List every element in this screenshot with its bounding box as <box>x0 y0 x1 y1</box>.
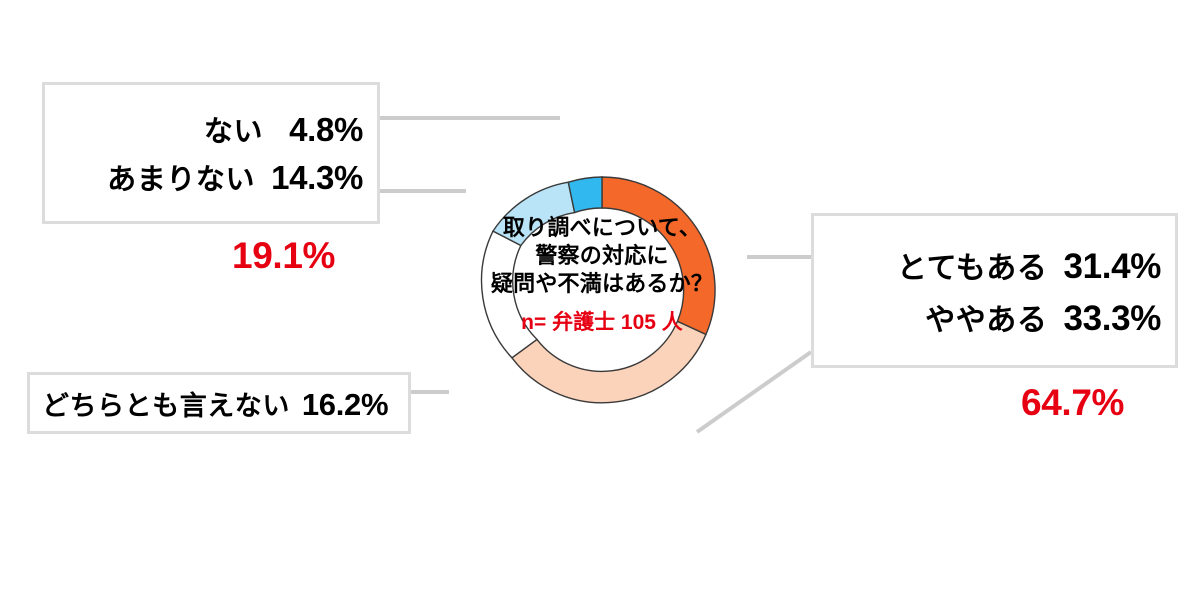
value-very-yes: 31.4% <box>1064 247 1162 287</box>
value-neutral: 16.2% <box>302 387 388 423</box>
label-very-yes: とてもある <box>897 243 1048 287</box>
total-positive: 64.7% <box>1021 382 1124 424</box>
value-no: 4.8% <box>289 111 363 149</box>
callout-row-somewhat-yes: ややある 33.3% <box>828 295 1161 339</box>
label-neutral: どちらとも言えない <box>42 384 290 423</box>
leader-line-somewhat-yes <box>697 352 811 432</box>
callout-negative: ない 4.8% あまりない 14.3% <box>42 82 380 224</box>
callout-row-very-yes: とてもある 31.4% <box>828 243 1161 287</box>
callout-neutral: どちらとも言えない 16.2% <box>27 372 411 434</box>
slice-no[interactable] <box>568 177 602 213</box>
callout-row-neutral: どちらとも言えない 16.2% <box>42 384 396 423</box>
center-question: 取り調べについて、 警察の対応に 疑問や不満はあるか？ n= 弁護士 105 人 <box>466 214 738 337</box>
question-line-2: 警察の対応に <box>466 242 738 270</box>
value-somewhat-yes: 33.3% <box>1064 299 1162 339</box>
value-somewhat-no: 14.3% <box>271 159 363 197</box>
total-negative: 19.1% <box>232 235 335 277</box>
question-line-1: 取り調べについて、 <box>466 214 738 242</box>
sample-size-note: n= 弁護士 105 人 <box>466 310 738 337</box>
label-no: ない <box>204 108 263 150</box>
chart-canvas: 取り調べについて、 警察の対応に 疑問や不満はあるか？ n= 弁護士 105 人… <box>0 0 1200 600</box>
label-somewhat-yes: ややある <box>925 295 1047 339</box>
callout-row-no: ない 4.8% <box>55 108 363 150</box>
question-line-3: 疑問や不満はあるか？ <box>466 270 738 298</box>
callout-row-somewhat-no: あまりない 14.3% <box>55 156 363 198</box>
callout-positive: とてもある 31.4% ややある 33.3% <box>811 213 1178 368</box>
label-somewhat-no: あまりない <box>107 156 255 198</box>
